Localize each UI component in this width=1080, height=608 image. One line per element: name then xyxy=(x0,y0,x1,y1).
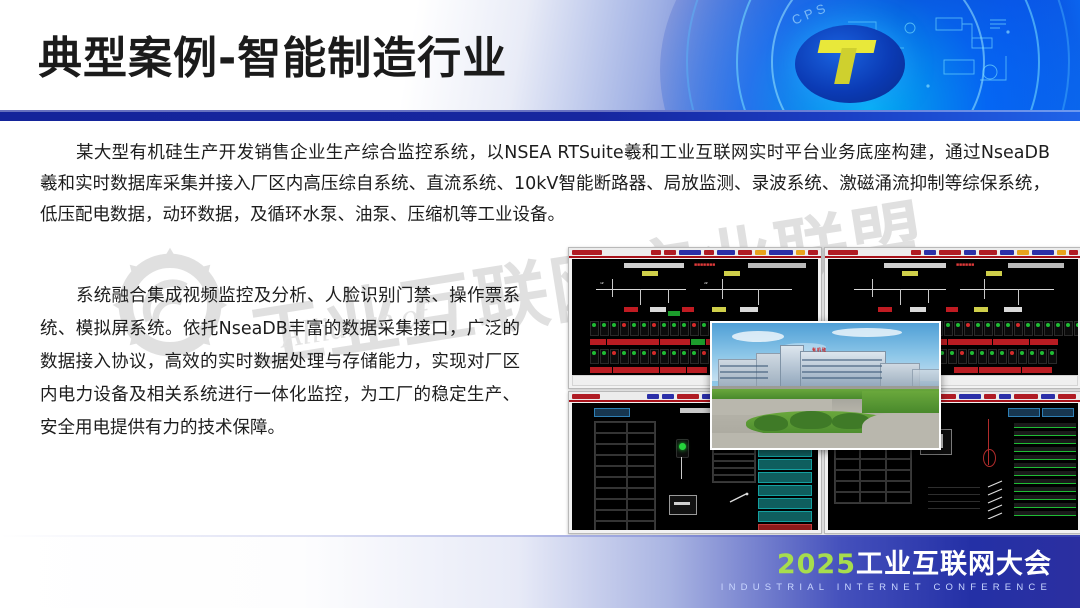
conference-title-cn: 工业互联网大会 xyxy=(856,549,1052,580)
photo-building-far xyxy=(912,369,940,387)
scada-accent-line xyxy=(825,256,1080,258)
page-title: 典型案例-智能制造行业 xyxy=(38,22,507,86)
photo-shrub xyxy=(790,411,832,429)
photo-shrub xyxy=(754,415,788,431)
header-accent-highlight xyxy=(0,110,1080,112)
conference-logo: 2025工业互联网大会 INDUSTRIAL INTERNET CONFEREN… xyxy=(721,549,1052,593)
photo-roof-sign: 有机硅 xyxy=(812,347,827,353)
slide-header: CPS 典型案例-智能制造行业 xyxy=(0,0,1080,110)
photo-cloud xyxy=(732,331,784,342)
conference-year: 2025 xyxy=(777,549,856,580)
photo-grass-right xyxy=(862,391,939,413)
conference-subtitle-en: INDUSTRIAL INTERNET CONFERENCE xyxy=(721,582,1052,593)
photo-building-main xyxy=(800,351,886,387)
header-t-logo-icon xyxy=(819,40,875,84)
footer-top-edge xyxy=(0,535,1080,537)
factory-campus-photo: 有机硅 xyxy=(710,321,941,450)
photo-cloud xyxy=(832,328,902,337)
body-paragraph-2: 系统融合集成视频监控及分析、人脸识别门禁、操作票系统、模拟屏系统。依托NseaD… xyxy=(40,280,520,445)
slide-root: CPS 典型案例-智能制造行业 工业互联网产业联盟 Alliance of 某大… xyxy=(0,0,1080,608)
scada-accent-line xyxy=(569,256,821,258)
body-paragraph-1: 某大型有机硅生产开发销售企业生产综合监控系统，以NSEA RTSuite羲和工业… xyxy=(40,138,1050,231)
photo-road-front xyxy=(712,433,939,448)
slide-footer: 2025工业互联网大会 INDUSTRIAL INTERNET CONFEREN… xyxy=(0,535,1080,608)
